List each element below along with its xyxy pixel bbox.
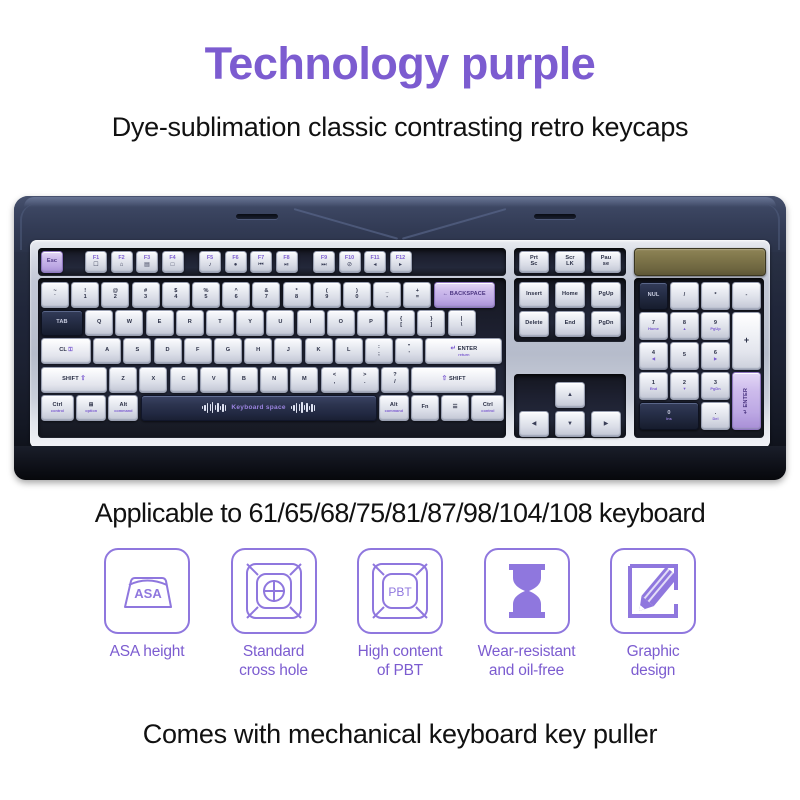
feature-cross-hole: Standardcross hole (215, 548, 333, 718)
key-backspace[interactable]: ← BACKSPACE (434, 282, 495, 308)
svg-text:PBT: PBT (388, 585, 412, 599)
key-p[interactable]: P (357, 310, 385, 336)
key-1[interactable]: !1 (71, 282, 99, 308)
key-numpad-2[interactable]: 2▼ (670, 372, 699, 400)
key-numpad-0[interactable]: 0Ins (639, 402, 699, 430)
feature-asa-height: ASA ASA height (88, 548, 206, 718)
key-scr-lk[interactable]: ScrLK (555, 251, 585, 273)
key-`[interactable]: ~` (41, 282, 69, 308)
key-numpad-1[interactable]: / (670, 282, 699, 310)
cross-stem-icon (231, 548, 317, 634)
svg-text:ASA: ASA (134, 586, 162, 601)
key-c[interactable]: C (170, 367, 198, 393)
key-insert[interactable]: Insert (519, 282, 549, 308)
feature-label: Wear-resistantand oil-free (478, 643, 576, 681)
key-x[interactable]: X (139, 367, 167, 393)
key-arrow-right[interactable]: ▶ (591, 411, 621, 437)
key-mod-6[interactable]: Ctrlcontrol (471, 395, 504, 421)
key-numpad-dot[interactable]: .Del (701, 402, 730, 430)
key-f5[interactable]: F5♪ (199, 251, 221, 273)
key-mod-4[interactable]: Fn (411, 395, 439, 421)
key-k[interactable]: K (305, 338, 333, 364)
key-j[interactable]: J (274, 338, 302, 364)
key-d[interactable]: D (154, 338, 182, 364)
case-vent-slot-right (534, 214, 576, 219)
key-t[interactable]: T (206, 310, 234, 336)
key-h[interactable]: H (244, 338, 272, 364)
case-top-highlight (24, 197, 776, 207)
key-2[interactable]: @2 (101, 282, 129, 308)
key-shift-right[interactable]: ⇧ SHIFT (411, 367, 496, 393)
feature-label: High contentof PBT (358, 643, 443, 681)
key-mod-3[interactable]: Altcommand (379, 395, 409, 421)
key-f12[interactable]: F12▸ (390, 251, 412, 273)
key-sym-2[interactable]: ?/ (381, 367, 409, 393)
key-tab[interactable]: TAB (41, 310, 83, 336)
key-arrow-left[interactable]: ◀ (519, 411, 549, 437)
case-bottom-edge (14, 446, 786, 480)
keyboard-case: EscF1☐F2⌂F3▤F4□F5♪F6●F7⏮F8⏯F9⏭F10⊘F11◂F1… (14, 196, 786, 480)
key-arrow-down[interactable]: ▼ (555, 411, 585, 437)
key-numpad-enter[interactable]: ↵ ENTER (732, 372, 761, 430)
applicable-text: Applicable to 61/65/68/75/81/87/98/104/1… (0, 498, 800, 529)
key-mod-0[interactable]: Ctrlcontrol (41, 395, 74, 421)
case-vent-slot-left (236, 214, 278, 219)
key-delete[interactable]: Delete (519, 311, 549, 337)
key-0[interactable]: )0 (343, 282, 371, 308)
key-f1[interactable]: F1☐ (85, 251, 107, 273)
key-numpad-9[interactable]: 9PgUp (701, 312, 730, 340)
key-punct-1[interactable]: "' (395, 338, 423, 364)
display-panel (634, 248, 766, 276)
key-sym-1[interactable]: >. (351, 367, 379, 393)
key-z[interactable]: Z (109, 367, 137, 393)
key-numpad-3[interactable]: 3PgDn (701, 372, 730, 400)
key-shift-left[interactable]: SHIFT ⇧ (41, 367, 107, 393)
product-marketing-page: Technology purple Dye-sublimation classi… (0, 0, 800, 800)
key-v[interactable]: V (200, 367, 228, 393)
key-f4[interactable]: F4□ (162, 251, 184, 273)
key-f6[interactable]: F6● (225, 251, 247, 273)
key-pgdn[interactable]: PgDn (591, 311, 621, 337)
page-subtitle: Dye-sublimation classic contrasting retr… (0, 112, 800, 143)
key-f9[interactable]: F9⏭ (313, 251, 335, 273)
key--[interactable]: _- (373, 282, 401, 308)
key-numpad-7[interactable]: 7Home (639, 312, 668, 340)
key-bracket-2[interactable]: |\ (448, 310, 476, 336)
key-s[interactable]: S (123, 338, 151, 364)
asa-keycap-icon: ASA (104, 548, 190, 634)
key-f[interactable]: F (184, 338, 212, 364)
key-numpad-0[interactable]: NUL (639, 282, 668, 310)
key-y[interactable]: Y (236, 310, 264, 336)
key-bracket-1[interactable]: }] (417, 310, 445, 336)
hourglass-icon (484, 548, 570, 634)
key-u[interactable]: U (266, 310, 294, 336)
key-w[interactable]: W (115, 310, 143, 336)
feature-pbt-content: PBT High contentof PBT (341, 548, 459, 718)
key-r[interactable]: R (176, 310, 204, 336)
key-9[interactable]: (9 (313, 282, 341, 308)
key-end[interactable]: End (555, 311, 585, 337)
key-m[interactable]: M (290, 367, 318, 393)
key-numpad-8[interactable]: 8▲ (670, 312, 699, 340)
pbt-keycap-icon: PBT (357, 548, 443, 634)
key-capslock[interactable]: CL ⚿ (41, 338, 91, 364)
footer-text: Comes with mechanical keyboard key pulle… (0, 719, 800, 750)
key-7[interactable]: &7 (252, 282, 280, 308)
key-mod-2[interactable]: Altcommand (108, 395, 138, 421)
pencil-design-icon (610, 548, 696, 634)
key-f7[interactable]: F7⏮ (250, 251, 272, 273)
key-f3[interactable]: F3▤ (136, 251, 158, 273)
key-sym-0[interactable]: <, (321, 367, 349, 393)
key-3[interactable]: #3 (132, 282, 160, 308)
key-=[interactable]: += (403, 282, 431, 308)
key-q[interactable]: Q (85, 310, 113, 336)
key-4[interactable]: $4 (162, 282, 190, 308)
key-n[interactable]: N (260, 367, 288, 393)
key-e[interactable]: E (146, 310, 174, 336)
key-b[interactable]: B (230, 367, 258, 393)
key-numpad-1[interactable]: 1End (639, 372, 668, 400)
key-numpad-4[interactable]: 4◀ (639, 342, 668, 370)
key-f11[interactable]: F11◂ (364, 251, 386, 273)
key-numpad-3[interactable]: - (732, 282, 761, 310)
key-a[interactable]: A (93, 338, 121, 364)
key-bracket-0[interactable]: {[ (387, 310, 415, 336)
key-o[interactable]: O (327, 310, 355, 336)
feature-graphic-design: Graphicdesign (594, 548, 712, 718)
key-home[interactable]: Home (555, 282, 585, 308)
keyboard-product-image: EscF1☐F2⌂F3▤F4□F5♪F6●F7⏮F8⏯F9⏭F10⊘F11◂F1… (14, 196, 786, 480)
page-title: Technology purple (0, 38, 800, 90)
key-6[interactable]: ^6 (222, 282, 250, 308)
key-spacebar[interactable]: Keyboard space (141, 395, 377, 421)
key-numpad-5[interactable]: 5 (670, 342, 699, 370)
case-v-groove (300, 208, 500, 238)
key-enter[interactable]: ↵ ENTER return (425, 338, 502, 364)
key-i[interactable]: I (297, 310, 325, 336)
feature-label: Standardcross hole (239, 643, 308, 681)
key-f2[interactable]: F2⌂ (111, 251, 133, 273)
key-mod-5[interactable]: ☰ (441, 395, 469, 421)
key-f8[interactable]: F8⏯ (276, 251, 298, 273)
key-prt-sc[interactable]: PrtSc (519, 251, 549, 273)
feature-label: ASA height (110, 643, 185, 662)
key-g[interactable]: G (214, 338, 242, 364)
key-punct-0[interactable]: :; (365, 338, 393, 364)
key-pgup[interactable]: PgUp (591, 282, 621, 308)
feature-wear-resistant: Wear-resistantand oil-free (468, 548, 586, 718)
key-8[interactable]: *8 (283, 282, 311, 308)
feature-label: Graphicdesign (627, 643, 680, 681)
key-pau-se[interactable]: Pause (591, 251, 621, 273)
key-l[interactable]: L (335, 338, 363, 364)
key-mod-1[interactable]: ⊞option (76, 395, 106, 421)
key-arrow-up[interactable]: ▲ (555, 382, 585, 408)
key-well-fn-main (38, 248, 506, 276)
key-5[interactable]: %5 (192, 282, 220, 308)
key-esc[interactable]: Esc (41, 251, 63, 273)
key-f10[interactable]: F10⊘ (339, 251, 361, 273)
feature-list: ASA ASA height Standardcross h (88, 548, 712, 718)
key-numpad-plus[interactable]: + (732, 312, 761, 370)
key-numpad-2[interactable]: * (701, 282, 730, 310)
key-numpad-6[interactable]: 6▶ (701, 342, 730, 370)
